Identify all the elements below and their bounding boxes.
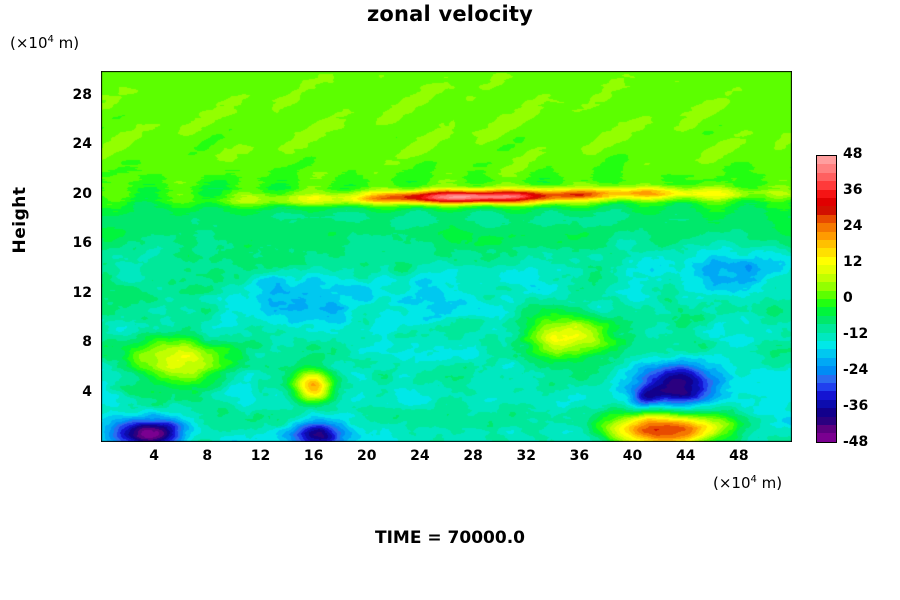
x-tick-20: 20 xyxy=(347,448,387,464)
colorbar-band-14 xyxy=(817,274,836,282)
colorbar-band-1 xyxy=(817,164,836,172)
colorbar-band-18 xyxy=(817,307,836,315)
x-unit-prefix: (×10 xyxy=(713,474,751,492)
colorbar-band-10 xyxy=(817,240,836,248)
x-tick-28: 28 xyxy=(453,448,493,464)
x-unit-suffix: m) xyxy=(757,474,782,492)
colorbar-band-27 xyxy=(817,383,836,391)
colorbar-tick-24: 24 xyxy=(843,218,889,234)
y-tick-16: 16 xyxy=(46,235,92,251)
y-tick-20: 20 xyxy=(46,186,92,202)
colorbar-band-12 xyxy=(817,257,836,265)
colorbar-band-6 xyxy=(817,206,836,214)
colorbar-band-22 xyxy=(817,341,836,349)
colorbar-band-26 xyxy=(817,375,836,383)
zonal-velocity-field xyxy=(101,71,792,442)
x-tick-32: 32 xyxy=(506,448,546,464)
colorbar-band-33 xyxy=(817,433,836,441)
x-tick-8: 8 xyxy=(187,448,227,464)
y-unit-prefix: (×10 xyxy=(10,34,48,52)
colorbar-band-23 xyxy=(817,349,836,357)
colorbar-band-30 xyxy=(817,408,836,416)
colorbar-band-11 xyxy=(817,248,836,256)
colorbar-band-13 xyxy=(817,265,836,273)
y-axis-title: Height xyxy=(10,160,30,280)
y-tick-28: 28 xyxy=(46,87,92,103)
x-tick-16: 16 xyxy=(294,448,334,464)
colorbar-band-19 xyxy=(817,316,836,324)
colorbar-tick-neg12: -12 xyxy=(843,326,889,342)
colorbar-tick-neg24: -24 xyxy=(843,362,889,378)
colorbar-band-25 xyxy=(817,366,836,374)
y-axis-unit-label: (×104 m) xyxy=(10,34,79,52)
colorbar-band-24 xyxy=(817,358,836,366)
colorbar-band-5 xyxy=(817,198,836,206)
colorbar-band-4 xyxy=(817,190,836,198)
colorbar-band-17 xyxy=(817,299,836,307)
x-tick-48: 48 xyxy=(719,448,759,464)
colorbar-band-20 xyxy=(817,324,836,332)
colorbar-band-29 xyxy=(817,400,836,408)
colorbar-tick-neg48: -48 xyxy=(843,434,889,450)
colorbar-band-7 xyxy=(817,215,836,223)
colorbar-band-16 xyxy=(817,291,836,299)
colorbar-band-31 xyxy=(817,417,836,425)
colorbar[interactable] xyxy=(816,155,837,443)
colorbar-band-8 xyxy=(817,223,836,231)
time-annotation: TIME = 70000.0 xyxy=(0,528,900,548)
heatmap-plot-area[interactable] xyxy=(101,71,792,442)
colorbar-band-15 xyxy=(817,282,836,290)
x-axis-unit-label: (×104 m) xyxy=(713,474,782,492)
colorbar-band-0 xyxy=(817,156,836,164)
y-tick-8: 8 xyxy=(46,334,92,350)
colorbar-tick-36: 36 xyxy=(843,182,889,198)
x-tick-12: 12 xyxy=(240,448,280,464)
colorbar-band-28 xyxy=(817,391,836,399)
x-tick-4: 4 xyxy=(134,448,174,464)
x-tick-40: 40 xyxy=(613,448,653,464)
colorbar-band-21 xyxy=(817,333,836,341)
colorbar-tick-0: 0 xyxy=(843,290,889,306)
colorbar-tick-neg36: -36 xyxy=(843,398,889,414)
x-tick-44: 44 xyxy=(666,448,706,464)
colorbar-tick-12: 12 xyxy=(843,254,889,270)
page-title: zonal velocity xyxy=(0,2,900,26)
y-tick-24: 24 xyxy=(46,136,92,152)
y-tick-4: 4 xyxy=(46,384,92,400)
colorbar-band-2 xyxy=(817,173,836,181)
y-unit-suffix: m) xyxy=(54,34,79,52)
colorbar-band-32 xyxy=(817,425,836,433)
y-tick-12: 12 xyxy=(46,285,92,301)
x-tick-24: 24 xyxy=(400,448,440,464)
colorbar-band-9 xyxy=(817,232,836,240)
figure-canvas: zonal velocity (×104 m) Height 282420161… xyxy=(0,0,900,600)
colorbar-tick-48: 48 xyxy=(843,146,889,162)
colorbar-band-3 xyxy=(817,181,836,189)
x-tick-36: 36 xyxy=(559,448,599,464)
